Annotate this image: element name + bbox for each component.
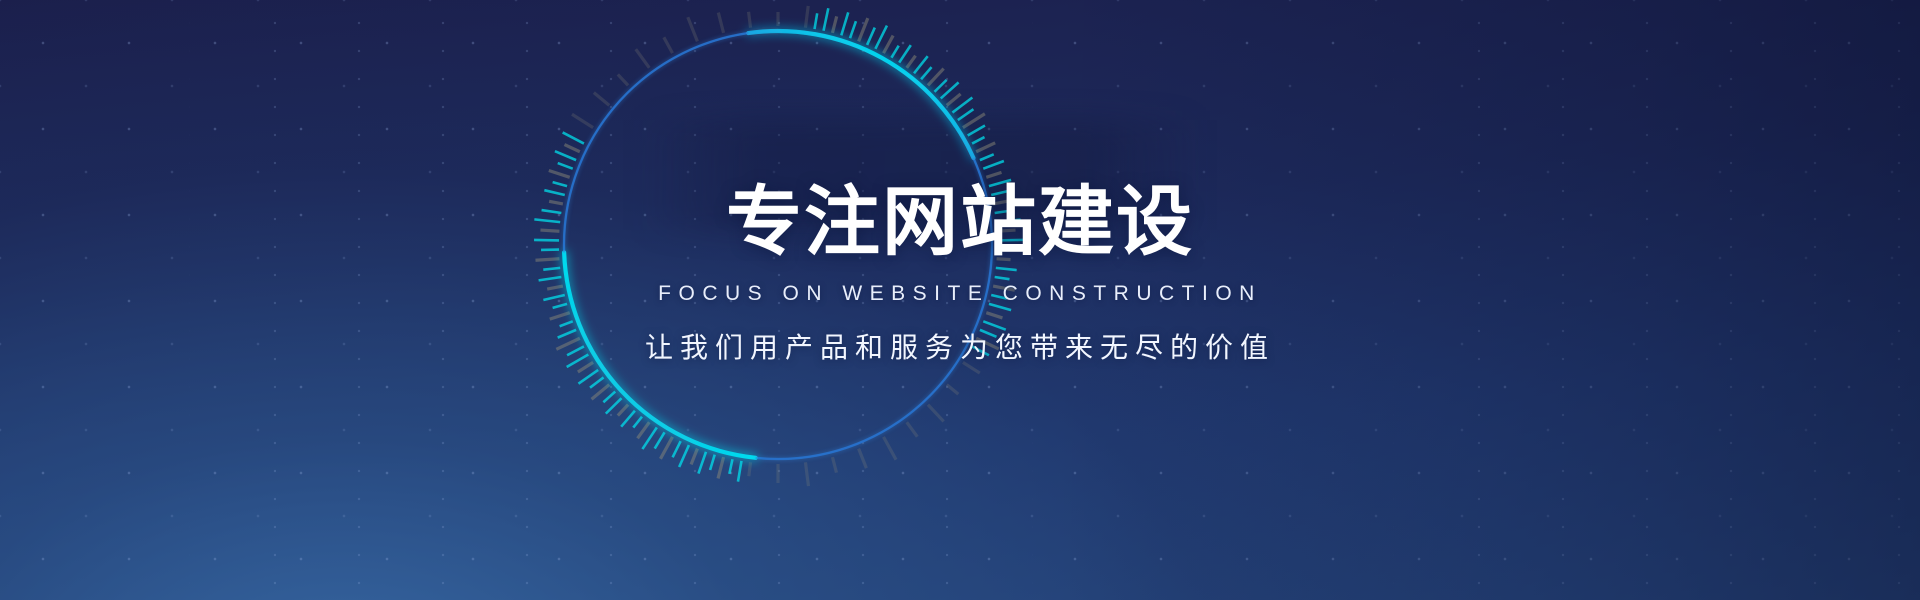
- banner-subtitle: FOCUS ON WEBSITE CONSTRUCTION: [658, 283, 1262, 304]
- dot-grid-fine-pattern: [0, 0, 1920, 600]
- edge-vignette: [0, 0, 1920, 600]
- ring-group: [534, 6, 1023, 486]
- headline-backdrop-band: [640, 120, 1200, 230]
- banner-text-block: 专注网站建设 FOCUS ON WEBSITE CONSTRUCTION 让我们…: [0, 0, 1920, 600]
- hero-banner: 专注网站建设 FOCUS ON WEBSITE CONSTRUCTION 让我们…: [0, 0, 1920, 600]
- banner-tagline: 让我们用产品和服务为您带来无尽的价值: [645, 334, 1275, 362]
- banner-headline: 专注网站建设: [726, 185, 1194, 261]
- dashed-tick-circle-graphic: [0, 0, 1920, 600]
- dot-grid-pattern: [0, 0, 1920, 600]
